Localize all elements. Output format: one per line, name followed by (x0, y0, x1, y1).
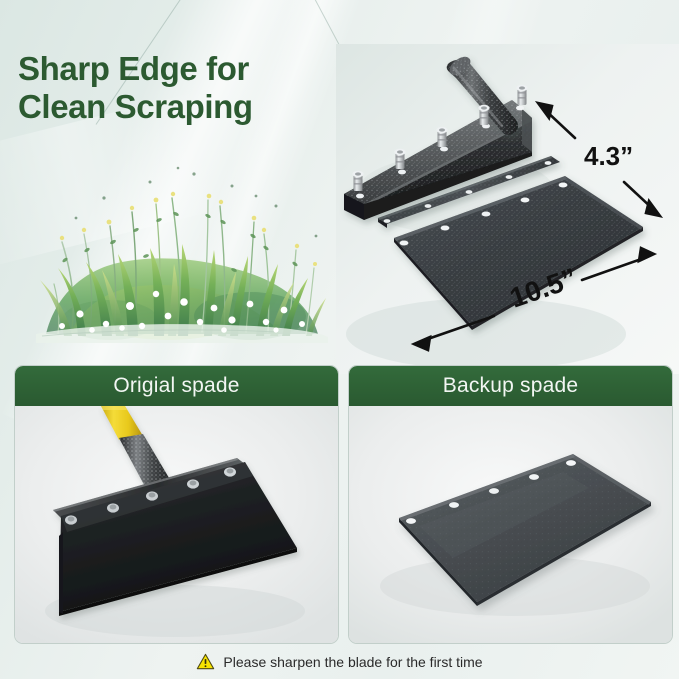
panel-backup-spade: Backup spade (348, 365, 673, 644)
panel-title-origial-spade: Origial spade (15, 366, 338, 406)
backup-spade-photo (349, 406, 672, 644)
panel-title-backup-spade: Backup spade (349, 366, 672, 406)
warning-triangle-icon (196, 653, 215, 670)
footnote-text: Please sharpen the blade for the first t… (223, 654, 482, 670)
scraper-blade-exploded-photo: 4.3” 10.5” (336, 44, 679, 374)
panel-body-origial-spade (15, 406, 338, 644)
origial-spade-photo (15, 406, 338, 644)
infographic-page: Sharp Edge for Clean Scraping (0, 0, 679, 679)
panel-origial-spade: Origial spade (14, 365, 339, 644)
dimension-label-width: 4.3” (584, 141, 633, 171)
panel-body-backup-spade (349, 406, 672, 644)
page-title: Sharp Edge for Clean Scraping (18, 50, 253, 127)
panel-title-text: Origial spade (113, 374, 239, 398)
footnote: Please sharpen the blade for the first t… (0, 653, 679, 670)
panel-title-text: Backup spade (443, 374, 579, 398)
watercolor-meadow-grass-illustration (18, 138, 343, 343)
